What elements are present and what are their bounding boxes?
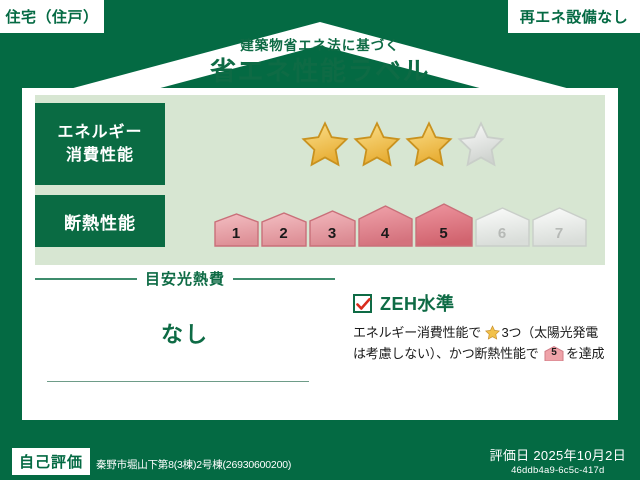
zeh-heading: ZEH水準 [353,290,605,316]
utility-cost-rule [47,381,309,382]
star-icon [485,325,500,340]
header-subtitle: 建築物省エネ法に基づく [0,38,640,54]
utility-cost-value: なし [35,317,335,349]
row-energy-performance: エネルギー 消費性能 [35,103,605,185]
star-icon [405,120,453,168]
utility-cost-column: 目安光熱費 なし [35,268,335,349]
insulation-level-4: 4 [358,205,413,247]
star-icon [301,120,349,168]
insulation-level-2: 2 [261,212,307,247]
insulation-scale: 1234567 [165,195,605,247]
divider-left [35,278,137,280]
star-icon [353,120,401,168]
insulation-level-7: 7 [532,207,587,247]
property-address: 秦野市堀山下第8(3棟)2号棟(26930600200) [96,457,291,472]
insulation-level-number: 1 [214,225,259,242]
insulation-level-number: 4 [358,225,413,242]
footer: 自己評価 秦野市堀山下第8(3棟)2号棟(26930600200) 評価日 20… [0,442,640,480]
zeh-column: ZEH水準 エネルギー消費性能で 3つ（太陽光発電 は考慮しない）、かつ断熱性能… [353,290,605,365]
insulation-level-number: 2 [261,225,307,242]
header-title-block: 建築物省エネ法に基づく 省エネ性能ラベル [0,38,640,87]
insulation-level-3: 3 [309,210,356,247]
row-label-energy-line1: エネルギー [57,121,142,144]
insulation-level-6: 6 [475,207,530,247]
row-label-insulation: 断熱性能 [35,195,165,247]
row-label-energy: エネルギー 消費性能 [35,103,165,185]
page-title: 省エネ性能ラベル [0,57,640,87]
self-evaluation-badge: 自己評価 [12,448,90,475]
check-icon [353,294,372,313]
insulation-level-number: 3 [309,225,356,242]
zeh-title: ZEH水準 [380,290,455,316]
row-label-energy-line2: 消費性能 [66,144,134,167]
badge-renewable-energy: 再エネ設備なし [508,0,640,33]
insulation-level-1: 1 [214,213,259,247]
energy-label-root: 住宅（住戸） 再エネ設備なし 建築物省エネ法に基づく 省エネ性能ラベル エネルギ… [0,0,640,480]
utility-cost-heading: 目安光熱費 [35,268,335,289]
insulation-level-number: 7 [532,225,587,242]
insulation-level-number: 5 [415,225,473,242]
zeh-text-part3: を達成 [566,346,604,361]
star-icon [457,120,505,168]
divider-right [233,278,335,280]
row-insulation-performance: 断熱性能 1234567 [35,195,605,247]
lower-section: 目安光熱費 なし ZEH水準 エネルギー消費性能で [35,268,605,413]
evaluation-uuid: 46ddb4a9-6c5c-417d [490,465,626,476]
evaluation-date: 評価日 2025年10月2日 [490,445,626,464]
zeh-text-part1: エネルギー消費性能で [353,325,481,340]
label-card: エネルギー 消費性能 断熱性能 1234567 目安光熱費 なし [22,88,618,420]
zeh-star-count: 3つ（太陽光発電 [501,325,598,340]
zeh-description: エネルギー消費性能で 3つ（太陽光発電 は考慮しない）、かつ断熱性能で 5 を達… [353,322,605,365]
evaluation-date-block: 評価日 2025年10月2日 46ddb4a9-6c5c-417d [490,445,626,476]
zeh-text-part2: は考慮しない）、かつ断熱性能で [353,346,539,361]
utility-cost-heading-text: 目安光熱費 [145,268,225,289]
star-rating [165,120,605,168]
house-level-number: 5 [544,345,564,362]
insulation-level-5: 5 [415,203,473,247]
badge-building-type: 住宅（住戸） [0,0,104,33]
house-icon: 5 [544,346,564,361]
insulation-level-number: 6 [475,225,530,242]
performance-band: エネルギー 消費性能 断熱性能 1234567 [35,95,605,265]
